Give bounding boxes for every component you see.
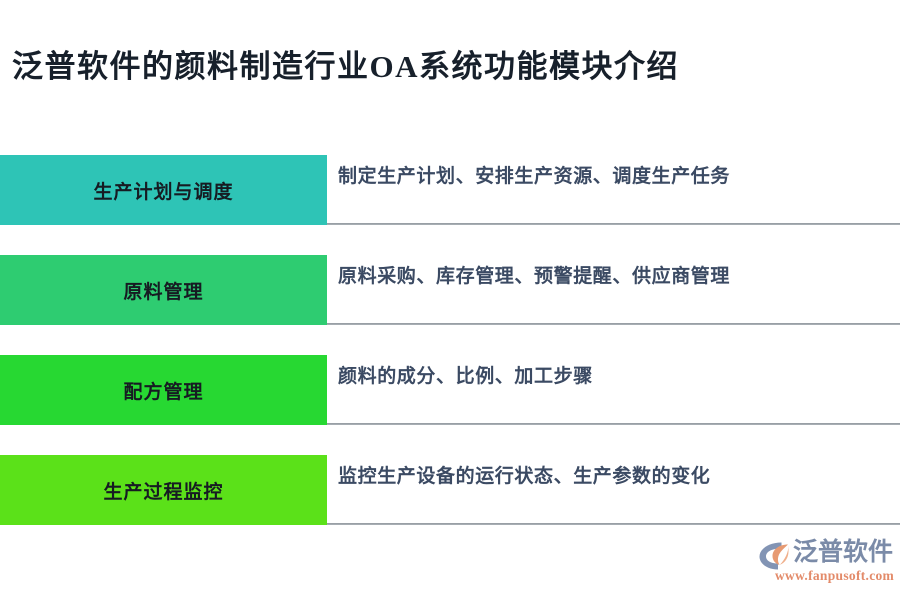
module-divider (327, 323, 900, 325)
module-row: 原料管理原料采购、库存管理、预警提醒、供应商管理 (0, 255, 900, 325)
module-divider (327, 523, 900, 525)
module-label-bar[interactable]: 生产计划与调度 (0, 155, 327, 225)
module-description: 颜料的成分、比例、加工步骤 (338, 363, 593, 391)
module-description-area: 颜料的成分、比例、加工步骤 (327, 355, 900, 425)
logo-brand-text: 泛普软件 (793, 538, 893, 568)
module-label-bar[interactable]: 生产过程监控 (0, 455, 327, 525)
module-description: 监控生产设备的运行状态、生产参数的变化 (338, 463, 710, 491)
module-label: 配方管理 (123, 377, 203, 404)
module-row: 配方管理颜料的成分、比例、加工步骤 (0, 355, 900, 425)
module-label: 生产计划与调度 (93, 177, 233, 204)
module-description-area: 制定生产计划、安排生产资源、调度生产任务 (327, 155, 900, 225)
module-description-area: 监控生产设备的运行状态、生产参数的变化 (327, 455, 900, 525)
logo-url-text: www.fanpusoft.com (775, 568, 894, 584)
module-label: 原料管理 (123, 277, 203, 304)
module-row: 生产过程监控监控生产设备的运行状态、生产参数的变化 (0, 455, 900, 525)
module-list: 生产计划与调度制定生产计划、安排生产资源、调度生产任务原料管理原料采购、库存管理… (0, 155, 900, 525)
module-label-bar[interactable]: 原料管理 (0, 255, 327, 325)
company-logo: 泛普软件 www.fanpusoft.com (757, 538, 892, 588)
slide-canvas: 泛普软件的颜料制造行业OA系统功能模块介绍 生产计划与调度制定生产计划、安排生产… (0, 0, 900, 600)
module-divider (327, 223, 900, 225)
module-description-area: 原料采购、库存管理、预警提醒、供应商管理 (327, 255, 900, 325)
module-description: 原料采购、库存管理、预警提醒、供应商管理 (338, 263, 730, 291)
page-title: 泛普软件的颜料制造行业OA系统功能模块介绍 (12, 46, 679, 88)
module-divider (327, 423, 900, 425)
module-description: 制定生产计划、安排生产资源、调度生产任务 (338, 163, 730, 191)
module-label-bar[interactable]: 配方管理 (0, 355, 327, 425)
module-label: 生产过程监控 (103, 477, 223, 504)
module-row: 生产计划与调度制定生产计划、安排生产资源、调度生产任务 (0, 155, 900, 225)
